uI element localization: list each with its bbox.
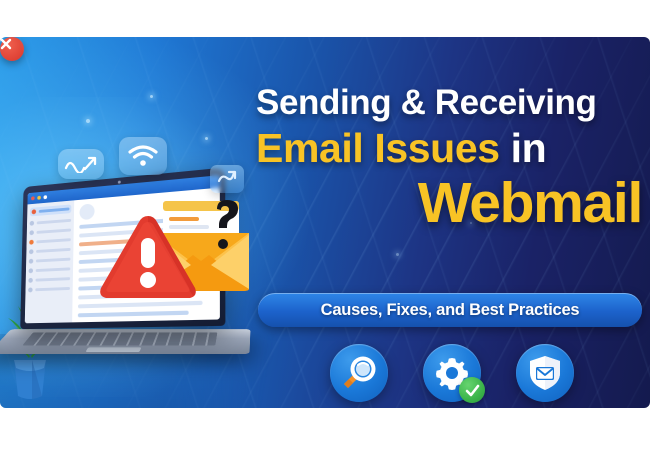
sidebar-item-label xyxy=(37,219,71,224)
sidebar-item-label xyxy=(39,207,70,212)
sidebar-item xyxy=(30,218,72,226)
sidebar-item xyxy=(29,228,71,236)
folder-icon xyxy=(29,249,34,254)
sidebar-item-label xyxy=(36,248,71,253)
sidebar-item xyxy=(28,286,70,292)
check-badge-icon xyxy=(459,377,485,403)
banner-background: Sending & Receiving Email Issues in Webm… xyxy=(0,37,650,408)
folder-icon xyxy=(29,259,34,264)
title-highlight: Email Issues xyxy=(256,125,500,171)
sidebar-item-label xyxy=(37,229,71,234)
laptop-base xyxy=(0,329,250,354)
bokeh-dot xyxy=(396,253,399,256)
bokeh-dot xyxy=(205,137,208,140)
sidebar-item xyxy=(28,276,70,283)
sidebar-item xyxy=(29,237,71,245)
sidebar-item-label xyxy=(36,258,71,263)
sidebar-item xyxy=(29,247,71,254)
window-close-dot xyxy=(31,196,35,200)
folder-icon xyxy=(29,230,34,235)
wifi-icon xyxy=(119,137,167,175)
gear-check-icon xyxy=(423,344,481,402)
sidebar-item xyxy=(29,257,71,264)
feature-icon-row xyxy=(330,343,575,403)
laptop-trackpad xyxy=(85,347,141,352)
subtitle-pill: Causes, Fixes, and Best Practices xyxy=(258,293,642,327)
sidebar-item-label xyxy=(36,238,70,243)
banner-graphic: Sending & Receiving Email Issues in Webm… xyxy=(0,0,650,450)
laptop-keyboard xyxy=(22,332,217,345)
folder-icon xyxy=(28,287,33,292)
title-connector: in xyxy=(511,125,547,171)
title-line-2: Email Issues in xyxy=(256,128,642,169)
folder-icon xyxy=(29,240,34,245)
sidebar-item-label xyxy=(35,277,70,281)
webcam-icon xyxy=(117,180,120,183)
magnifier-icon xyxy=(330,344,388,402)
mail-sidebar xyxy=(25,200,74,323)
title-line-3: Webmail xyxy=(256,175,642,232)
sidebar-item-label xyxy=(35,287,70,291)
error-x-icon xyxy=(0,37,24,61)
folder-icon xyxy=(30,221,35,226)
laptop-illustration xyxy=(0,167,270,408)
sidebar-item-inbox xyxy=(30,204,72,216)
title-line-1: Sending & Receiving xyxy=(256,85,642,120)
folder-icon xyxy=(28,278,33,283)
bokeh-dot xyxy=(86,119,90,123)
folder-icon xyxy=(32,209,37,214)
sidebar-item xyxy=(29,266,71,273)
folder-icon xyxy=(29,268,34,273)
signal-curve-icon xyxy=(58,149,104,179)
headline-block: Sending & Receiving Email Issues in Webm… xyxy=(256,85,642,232)
sidebar-item-label xyxy=(36,267,71,272)
send-arrow-icon xyxy=(210,165,244,193)
window-maximize-dot xyxy=(43,195,47,199)
bokeh-dot xyxy=(150,95,153,98)
window-minimize-dot xyxy=(37,196,41,200)
avatar xyxy=(79,203,94,220)
warning-triangle-icon xyxy=(96,212,200,306)
shield-mail-icon xyxy=(516,344,574,402)
message-row xyxy=(78,311,189,318)
subtitle-text: Causes, Fixes, and Best Practices xyxy=(321,301,580,320)
